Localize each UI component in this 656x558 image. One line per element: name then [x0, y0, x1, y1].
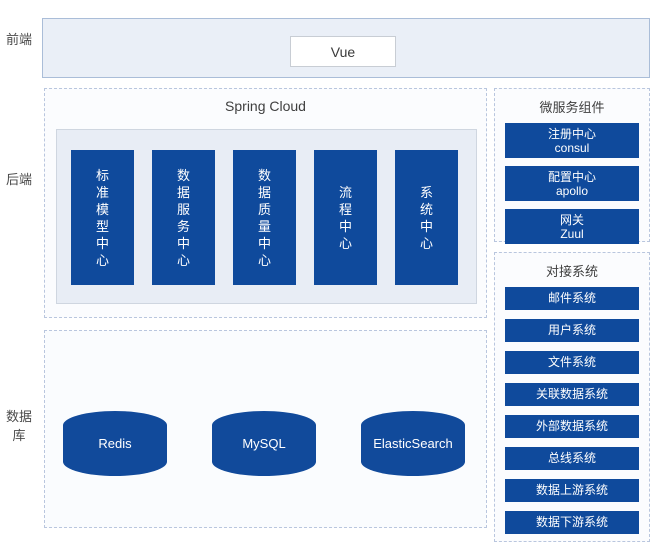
database-cylinder-label: Redis	[98, 436, 131, 451]
service-column-system-center[interactable]: 系统中心	[395, 150, 458, 285]
spring-cloud-inner-panel: 标准模型中心 数据服务中心 数据质量中心 流程中心 系统中心	[56, 129, 477, 304]
microservice-components-panel: 微服务组件 注册中心 consul 配置中心 apollo 网关 Zuul	[494, 88, 650, 242]
service-column-process-center[interactable]: 流程中心	[314, 150, 377, 285]
service-column-label: 数据质量中心	[257, 167, 272, 269]
integration-item-downstream-data[interactable]: 数据下游系统	[505, 511, 639, 534]
service-column-label: 系统中心	[419, 184, 434, 252]
spring-cloud-panel: Spring Cloud 标准模型中心 数据服务中心 数据质量中心 流程中心 系…	[44, 88, 487, 318]
integration-systems-panel: 对接系统 邮件系统 用户系统 文件系统 关联数据系统 外部数据系统 总线系统 数…	[494, 252, 650, 542]
tier-label-backend: 后端	[2, 170, 36, 189]
integration-systems-title: 对接系统	[495, 261, 649, 280]
tier-label-frontend: 前端	[2, 30, 36, 49]
service-column-label: 数据服务中心	[176, 167, 191, 269]
microservice-item-name: 网关	[505, 213, 639, 227]
tier-label-database: 数据库	[2, 407, 36, 445]
service-column-label: 标准模型中心	[95, 167, 110, 269]
microservice-item-tech: apollo	[505, 184, 639, 198]
integration-item-linked-data[interactable]: 关联数据系统	[505, 383, 639, 406]
integration-item-upstream-data[interactable]: 数据上游系统	[505, 479, 639, 502]
integration-item-user[interactable]: 用户系统	[505, 319, 639, 342]
service-column-data-quality-center[interactable]: 数据质量中心	[233, 150, 296, 285]
database-cylinder-mysql[interactable]: MySQL	[212, 411, 316, 476]
database-cylinder-label: MySQL	[242, 436, 285, 451]
database-cylinder-elasticsearch[interactable]: ElasticSearch	[361, 411, 465, 476]
integration-systems-list: 邮件系统 用户系统 文件系统 关联数据系统 外部数据系统 总线系统 数据上游系统…	[495, 287, 649, 534]
microservice-item-name: 配置中心	[505, 170, 639, 184]
integration-item-mail[interactable]: 邮件系统	[505, 287, 639, 310]
integration-item-external-data[interactable]: 外部数据系统	[505, 415, 639, 438]
database-panel: Redis MySQL ElasticSearch	[44, 330, 487, 528]
service-column-label: 流程中心	[338, 184, 353, 252]
microservice-components-list: 注册中心 consul 配置中心 apollo 网关 Zuul	[495, 123, 649, 244]
frontend-vue-box[interactable]: Vue	[290, 36, 396, 67]
frontend-panel: Vue	[42, 18, 650, 78]
integration-item-file[interactable]: 文件系统	[505, 351, 639, 374]
microservice-components-title: 微服务组件	[495, 97, 649, 116]
microservice-item-tech: consul	[505, 141, 639, 155]
service-column-standard-model-center[interactable]: 标准模型中心	[71, 150, 134, 285]
database-cylinder-redis[interactable]: Redis	[63, 411, 167, 476]
microservice-item-config[interactable]: 配置中心 apollo	[505, 166, 639, 201]
microservice-item-gateway[interactable]: 网关 Zuul	[505, 209, 639, 244]
database-cylinder-label: ElasticSearch	[373, 436, 452, 451]
microservice-item-tech: Zuul	[505, 227, 639, 241]
architecture-diagram: 前端 后端 数据库 Vue Spring Cloud 标准模型中心 数据服务中心…	[0, 0, 656, 558]
spring-cloud-title: Spring Cloud	[45, 98, 486, 114]
microservice-item-registry[interactable]: 注册中心 consul	[505, 123, 639, 158]
service-column-data-service-center[interactable]: 数据服务中心	[152, 150, 215, 285]
integration-item-bus[interactable]: 总线系统	[505, 447, 639, 470]
microservice-item-name: 注册中心	[505, 127, 639, 141]
